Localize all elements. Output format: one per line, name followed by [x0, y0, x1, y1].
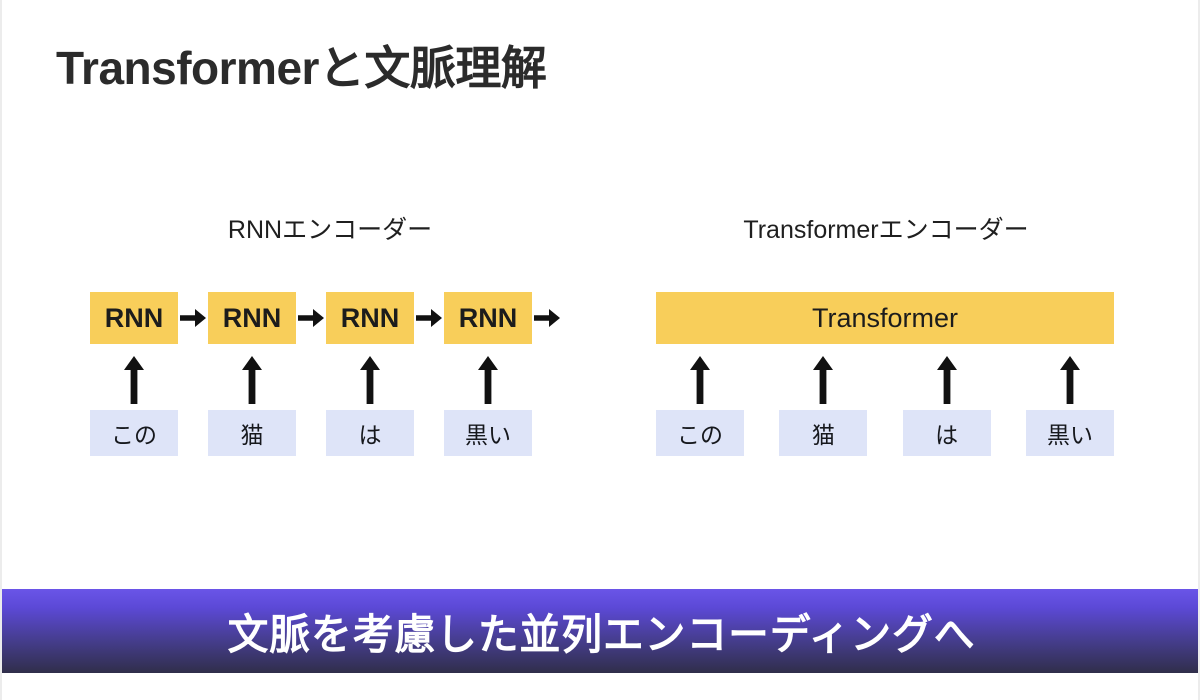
- transformer-block: Transformer: [656, 292, 1114, 344]
- arrow-up-icon: [903, 356, 991, 404]
- rnn-encoder-group: RNNエンコーダー RNN RNN RNN RNN: [90, 218, 570, 248]
- rnn-block: RNN: [90, 292, 178, 344]
- rnn-encoder-row: RNN RNN RNN RNN: [90, 292, 562, 344]
- arrow-up-icon: [208, 356, 296, 404]
- bottom-banner: 文脈を考慮した並列エンコーディングへ: [2, 589, 1200, 673]
- rnn-token-row: この 猫 は 黒い: [90, 410, 532, 456]
- page-title: Transformerと文脈理解: [56, 32, 546, 98]
- token-box: 猫: [208, 410, 296, 456]
- chain-arrow-right-icon: [414, 292, 444, 344]
- transformer-encoder-group: Transformerエンコーダー Transformer この 猫 は 黒い: [656, 218, 1116, 248]
- token-box: この: [656, 410, 744, 456]
- rnn-input-arrow-row: [90, 356, 532, 406]
- token-box: 黒い: [444, 410, 532, 456]
- banner-text: 文脈を考慮した並列エンコーディングへ: [228, 601, 976, 662]
- chain-arrow-right-icon: [296, 292, 326, 344]
- slide-canvas: Transformerと文脈理解 RNNエンコーダー RNN RNN RNN R…: [0, 0, 1200, 700]
- token-box: この: [90, 410, 178, 456]
- arrow-up-icon: [90, 356, 178, 404]
- arrow-up-icon: [656, 356, 744, 404]
- arrow-up-icon: [444, 356, 532, 404]
- chain-arrow-right-icon: [532, 292, 562, 344]
- rnn-block: RNN: [326, 292, 414, 344]
- transformer-encoder-heading: Transformerエンコーダー: [656, 218, 1116, 248]
- transformer-input-arrow-row: [656, 356, 1114, 406]
- rnn-block: RNN: [444, 292, 532, 344]
- token-box: 猫: [779, 410, 867, 456]
- chain-arrow-right-icon: [178, 292, 208, 344]
- arrow-up-icon: [1026, 356, 1114, 404]
- arrow-up-icon: [779, 356, 867, 404]
- arrow-up-icon: [326, 356, 414, 404]
- transformer-token-row: この 猫 は 黒い: [656, 410, 1114, 456]
- token-box: は: [326, 410, 414, 456]
- token-box: は: [903, 410, 991, 456]
- token-box: 黒い: [1026, 410, 1114, 456]
- rnn-block: RNN: [208, 292, 296, 344]
- rnn-encoder-heading: RNNエンコーダー: [90, 218, 570, 248]
